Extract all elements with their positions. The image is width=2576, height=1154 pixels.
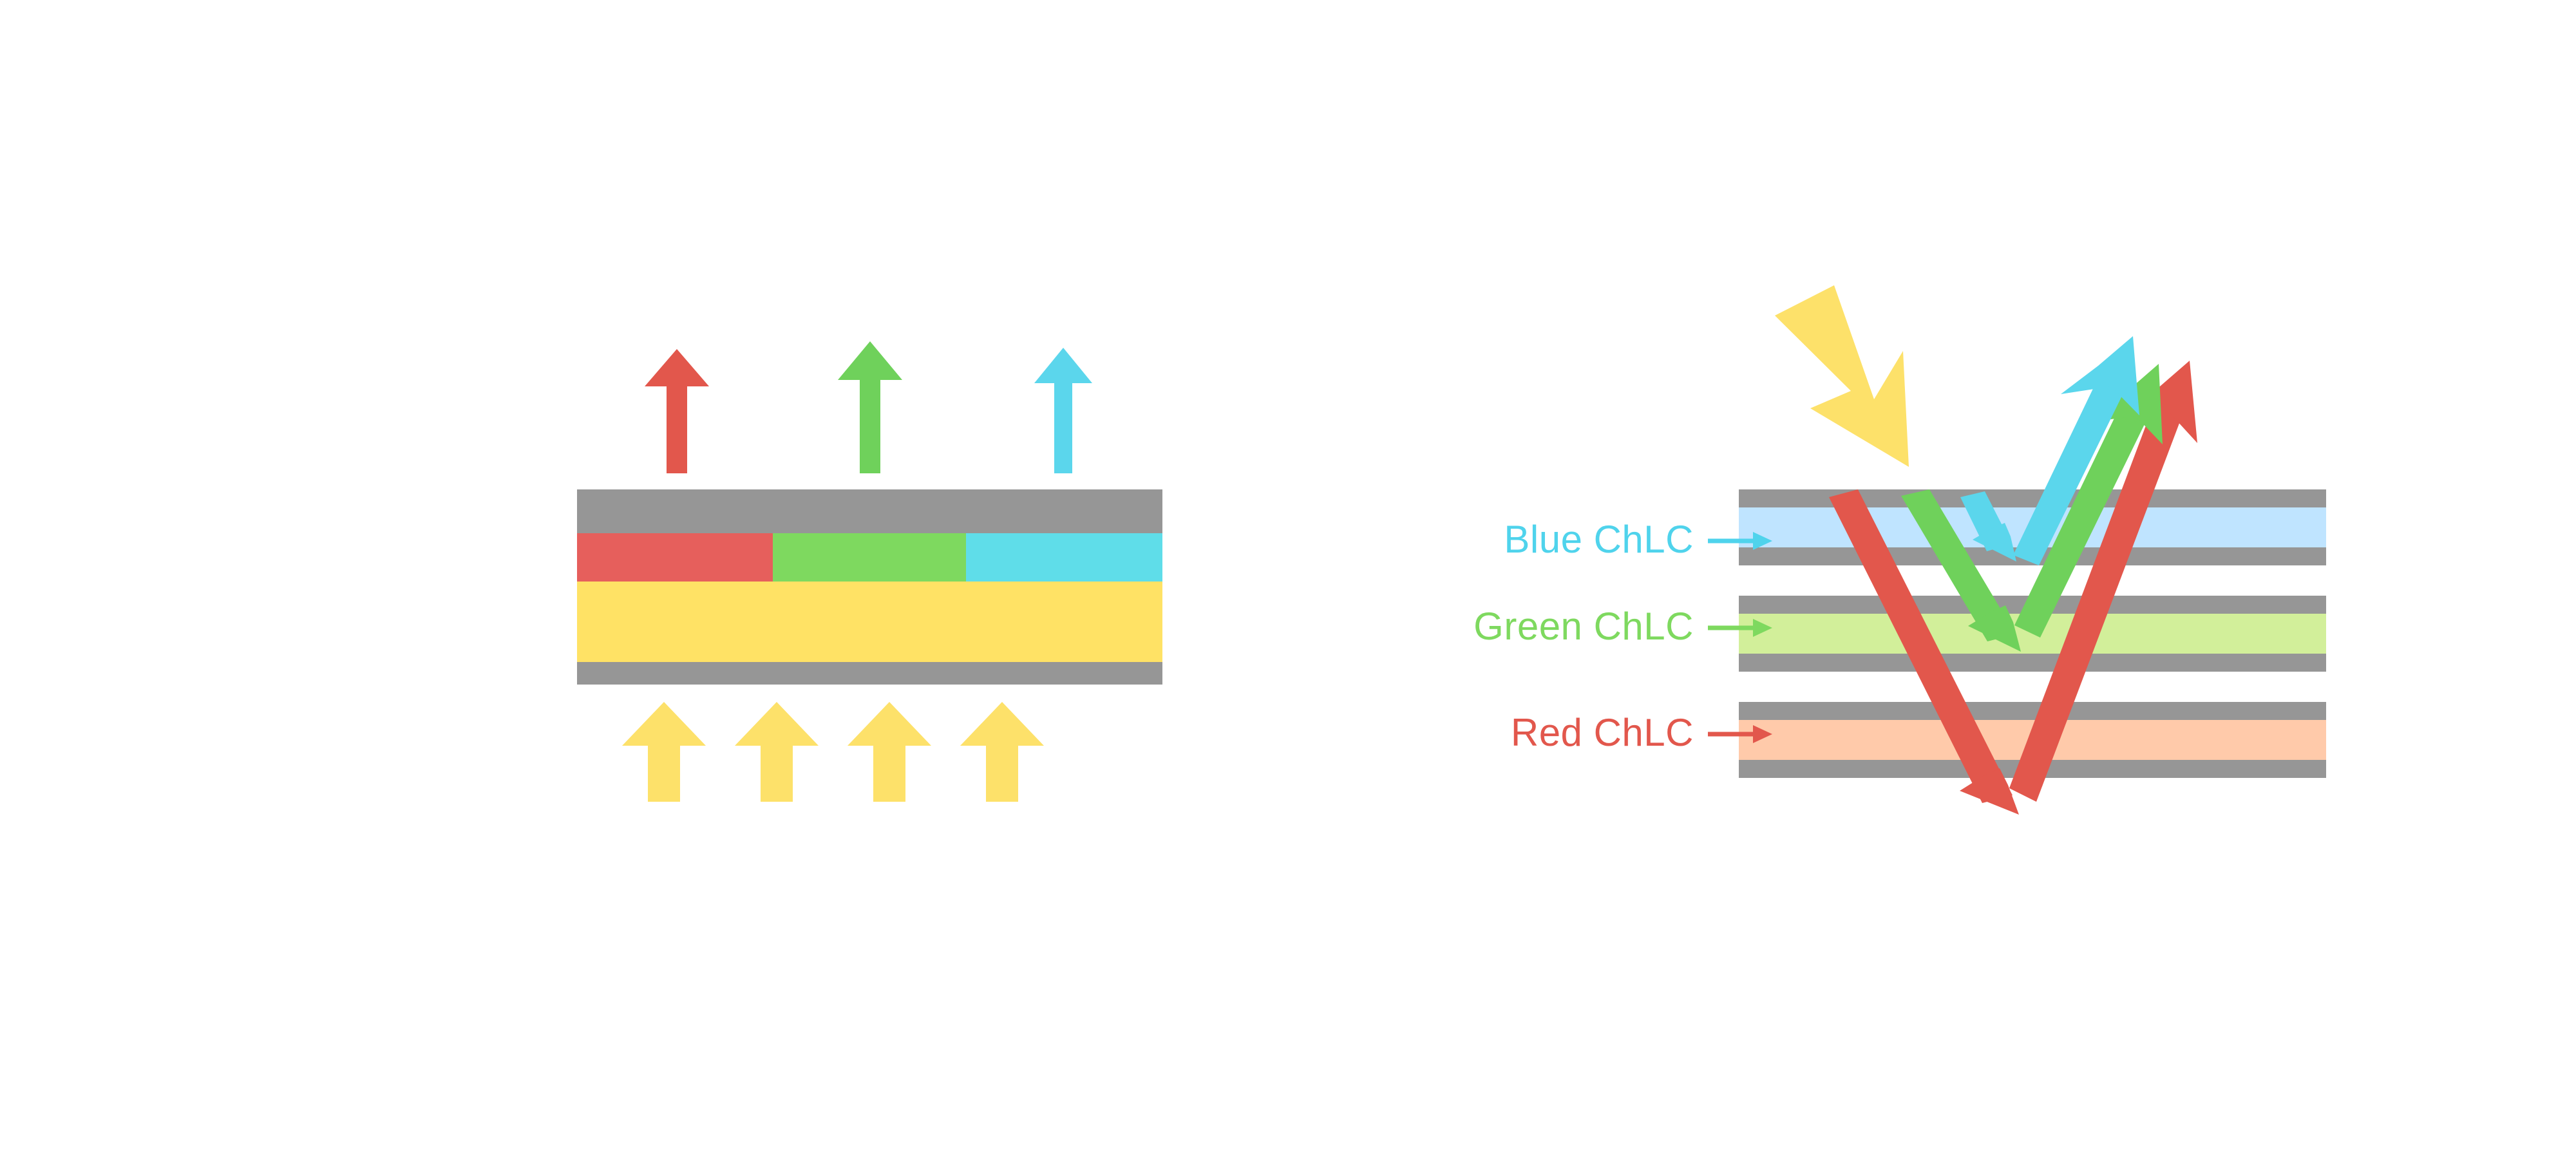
blue-chlc-label: Blue ChLC bbox=[1504, 518, 1694, 561]
backlight-arrow-4 bbox=[960, 702, 1044, 802]
red-filter-segment bbox=[577, 533, 773, 582]
green-filter-segment bbox=[773, 533, 966, 582]
chlc-display-diagram: Blue ChLC Green ChLC Red ChLC bbox=[0, 0, 2576, 1154]
blue-top-electrode bbox=[1739, 489, 2326, 507]
transmissive-backlit-panel bbox=[577, 341, 1162, 802]
emitted-green-arrow bbox=[838, 341, 902, 473]
emitted-red-arrow bbox=[645, 349, 709, 473]
bottom-electrode-layer bbox=[577, 662, 1162, 685]
blue-filter-segment bbox=[966, 533, 1162, 582]
backlight-arrow-1 bbox=[622, 702, 706, 802]
top-electrode-layer bbox=[577, 489, 1162, 533]
blue-chlc-label-group: Blue ChLC bbox=[1504, 518, 1772, 561]
green-chlc-label: Green ChLC bbox=[1473, 605, 1694, 648]
red-chlc-label: Red ChLC bbox=[1511, 711, 1694, 754]
red-top-electrode bbox=[1739, 702, 2326, 720]
backlight-arrow-2 bbox=[735, 702, 819, 802]
diagram-canvas: Blue ChLC Green ChLC Red ChLC bbox=[0, 0, 2576, 1154]
chlc-reflective-panel: Blue ChLC Green ChLC Red ChLC bbox=[1473, 285, 2326, 815]
red-chlc-label-group: Red ChLC bbox=[1511, 711, 1772, 754]
backlight-arrow-3 bbox=[848, 702, 931, 802]
green-chlc-label-group: Green ChLC bbox=[1473, 605, 1772, 648]
green-bottom-electrode bbox=[1739, 654, 2326, 672]
backlight-layer bbox=[577, 582, 1162, 662]
incident-white-light-arrow bbox=[1775, 285, 1909, 467]
emitted-blue-arrow bbox=[1034, 348, 1092, 473]
